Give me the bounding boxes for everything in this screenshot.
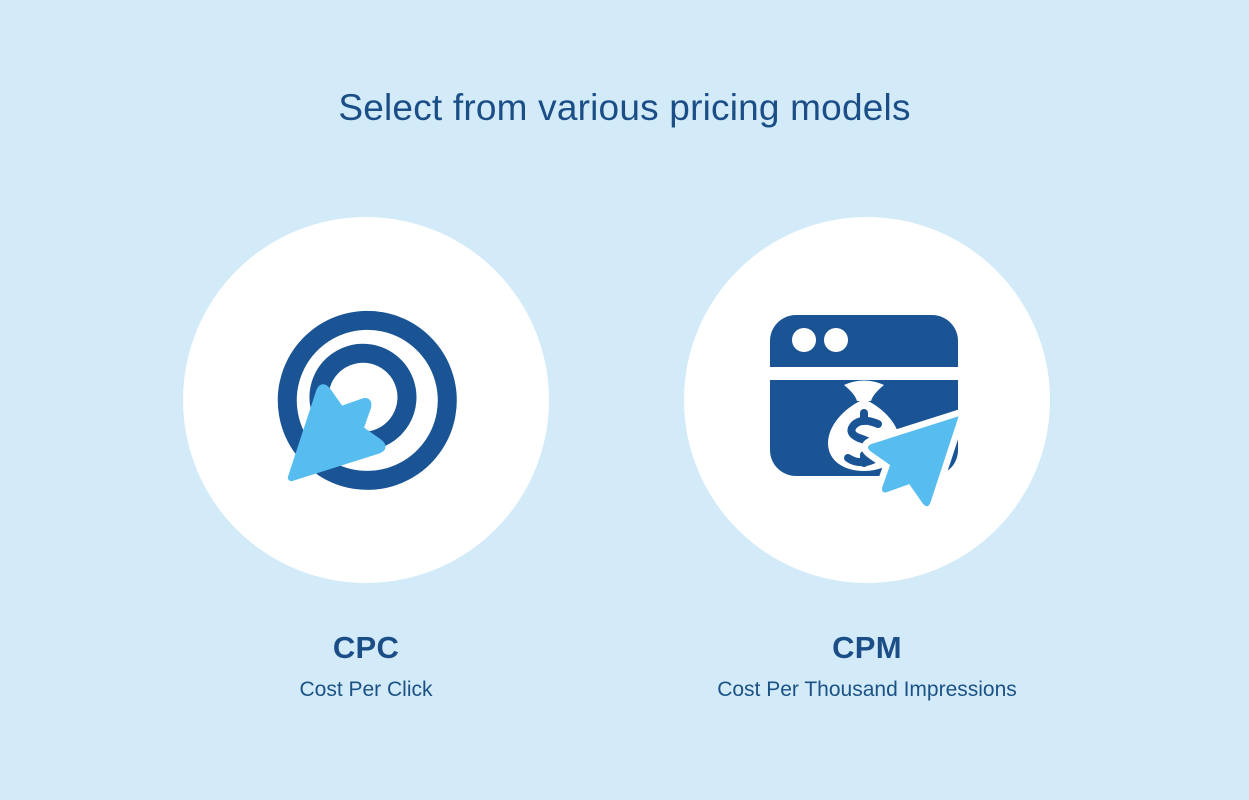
- pricing-model-card-cpc[interactable]: CPC Cost Per Click: [183, 217, 549, 583]
- click-ripple-cursor-icon: [251, 285, 481, 515]
- model-description-cpm: Cost Per Thousand Impressions: [557, 677, 1177, 703]
- model-code-cpm: CPM: [557, 629, 1177, 667]
- card-labels-cpm: CPM Cost Per Thousand Impressions: [557, 629, 1177, 703]
- pricing-model-card-cpm[interactable]: CPM Cost Per Thousand Impressions: [684, 217, 1050, 583]
- page-title: Select from various pricing models: [0, 84, 1249, 132]
- pricing-models-graphic: Select from various pricing models CPC C…: [0, 0, 1249, 800]
- browser-money-bag-cursor-icon: [752, 285, 982, 515]
